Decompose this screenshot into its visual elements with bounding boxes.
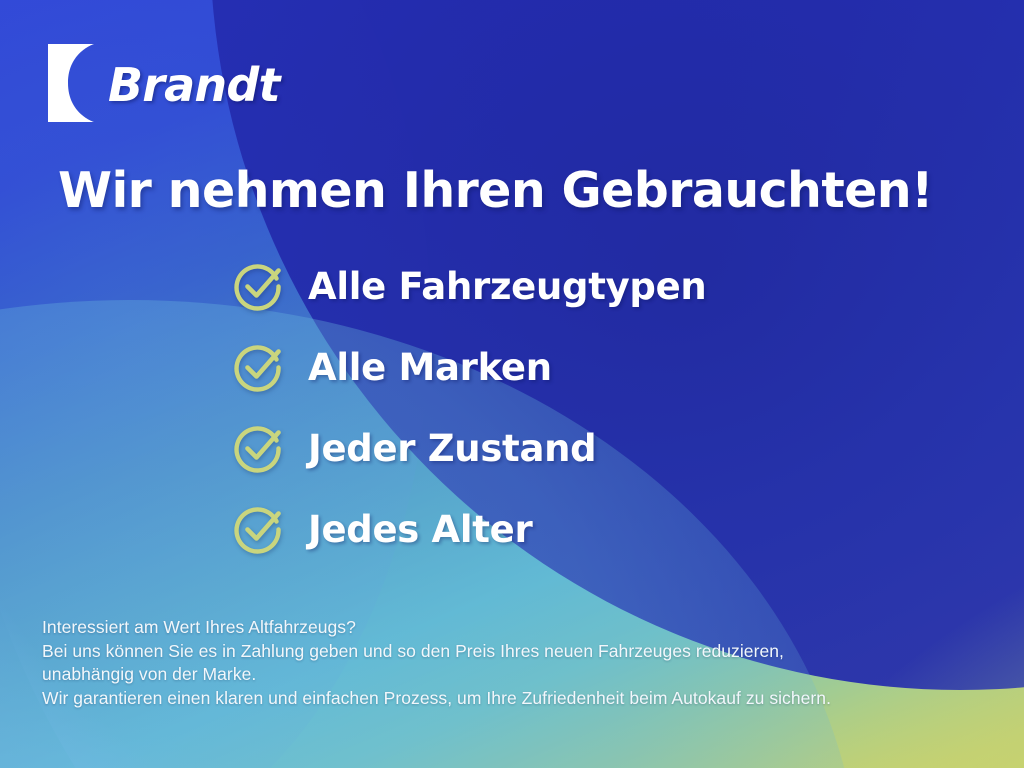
body-line: Bei uns können Sie es in Zahlung geben u…	[42, 640, 942, 664]
brandt-flag-crescent-icon	[48, 44, 94, 122]
check-circle-icon	[232, 421, 286, 475]
benefit-label: Alle Fahrzeugtypen	[308, 265, 706, 308]
benefit-label: Jeder Zustand	[308, 427, 596, 470]
benefit-label: Jedes Alter	[308, 508, 532, 551]
banner-content: Brandt Wir nehmen Ihren Gebrauchten! All…	[0, 0, 1024, 768]
body-line: Wir garantieren einen klaren und einfach…	[42, 687, 942, 711]
body-line: unabhängig von der Marke.	[42, 663, 942, 687]
benefit-item: Jeder Zustand	[232, 420, 706, 476]
benefit-item: Alle Fahrzeugtypen	[232, 258, 706, 314]
benefit-label: Alle Marken	[308, 346, 552, 389]
brand-logo: Brandt	[48, 44, 280, 122]
headline: Wir nehmen Ihren Gebrauchten!	[58, 162, 933, 219]
promo-banner: Brandt Wir nehmen Ihren Gebrauchten! All…	[0, 0, 1024, 768]
check-circle-icon	[232, 340, 286, 394]
benefit-item: Alle Marken	[232, 339, 706, 395]
body-copy: Interessiert am Wert Ihres Altfahrzeugs?…	[42, 616, 942, 710]
benefits-list: Alle Fahrzeugtypen Alle Marken Jeder Zus…	[232, 258, 706, 557]
brand-wordmark: Brandt	[108, 62, 280, 108]
check-circle-icon	[232, 502, 286, 556]
benefit-item: Jedes Alter	[232, 501, 706, 557]
body-line: Interessiert am Wert Ihres Altfahrzeugs?	[42, 616, 942, 640]
check-circle-icon	[232, 259, 286, 313]
